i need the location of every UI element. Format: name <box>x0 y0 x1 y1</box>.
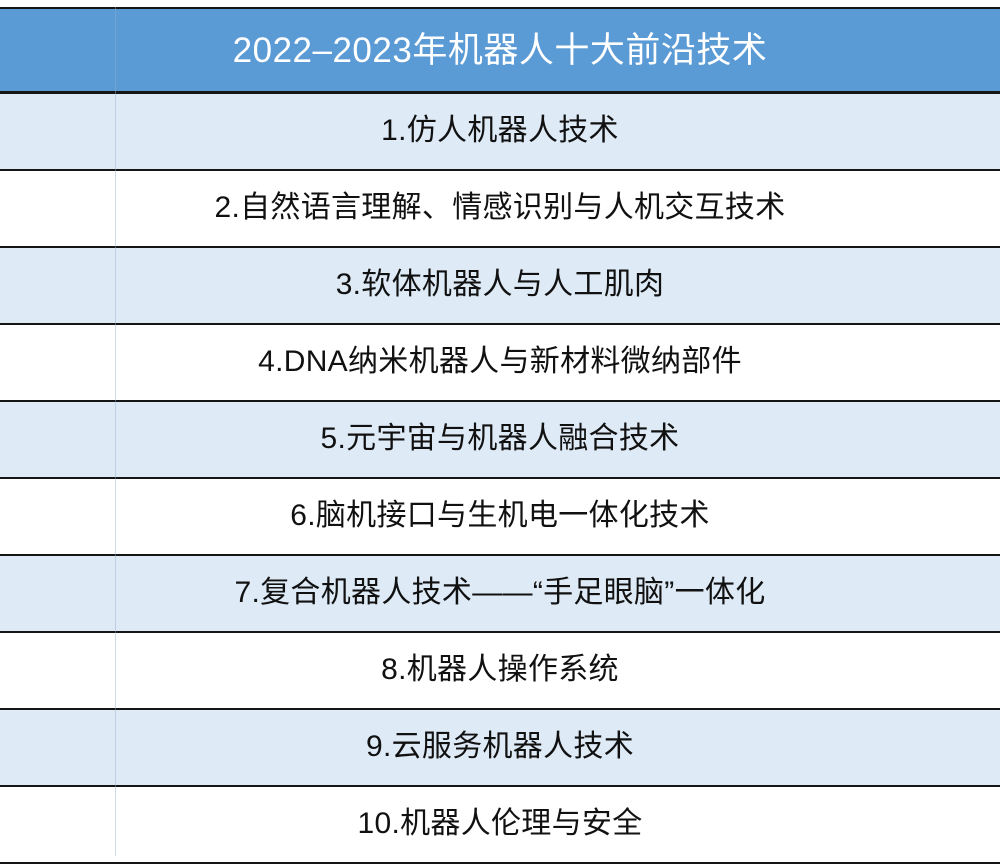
tech-list-table: 2022–2023年机器人十大前沿技术 1.仿人机器人技术 2.自然语言理解、情… <box>0 7 1000 864</box>
item-label: 3.软体机器人与人工肌肉 <box>0 270 1000 300</box>
item-label: 7.复合机器人技术——“手足眼脑”一体化 <box>0 578 1000 608</box>
table-cell-item-3[interactable]: 3.软体机器人与人工肌肉 <box>0 247 1000 324</box>
table-cell-item-2[interactable]: 2.自然语言理解、情感识别与人机交互技术 <box>0 170 1000 247</box>
table-cell-item-5[interactable]: 5.元宇宙与机器人融合技术 <box>0 401 1000 478</box>
table-row[interactable]: 4.DNA纳米机器人与新材料微纳部件 <box>0 324 1000 401</box>
table-cell-item-8[interactable]: 8.机器人操作系统 <box>0 632 1000 709</box>
table-cell-item-9[interactable]: 9.云服务机器人技术 <box>0 709 1000 786</box>
table-row[interactable]: 7.复合机器人技术——“手足眼脑”一体化 <box>0 555 1000 632</box>
table-header-row: 2022–2023年机器人十大前沿技术 <box>0 8 1000 93</box>
table-cell-item-6[interactable]: 6.脑机接口与生机电一体化技术 <box>0 478 1000 555</box>
item-label: 5.元宇宙与机器人融合技术 <box>0 424 1000 454</box>
table-row[interactable]: 1.仿人机器人技术 <box>0 93 1000 170</box>
table-title-cell: 2022–2023年机器人十大前沿技术 <box>0 8 1000 93</box>
item-label: 9.云服务机器人技术 <box>0 732 1000 762</box>
item-label: 2.自然语言理解、情感识别与人机交互技术 <box>0 193 1000 223</box>
table-row[interactable]: 2.自然语言理解、情感识别与人机交互技术 <box>0 170 1000 247</box>
item-label: 6.脑机接口与生机电一体化技术 <box>0 501 1000 531</box>
table-row[interactable]: 5.元宇宙与机器人融合技术 <box>0 401 1000 478</box>
item-label: 4.DNA纳米机器人与新材料微纳部件 <box>0 347 1000 377</box>
table-row[interactable]: 10.机器人伦理与安全 <box>0 786 1000 863</box>
table-title-text: 2022–2023年机器人十大前沿技术 <box>0 33 1000 68</box>
table-row[interactable]: 9.云服务机器人技术 <box>0 709 1000 786</box>
table-cell-item-10[interactable]: 10.机器人伦理与安全 <box>0 786 1000 863</box>
table-cell-item-7[interactable]: 7.复合机器人技术——“手足眼脑”一体化 <box>0 555 1000 632</box>
robotics-top-ten-technologies-table: 2022–2023年机器人十大前沿技术 1.仿人机器人技术 2.自然语言理解、情… <box>0 0 1000 860</box>
table-cell-item-1[interactable]: 1.仿人机器人技术 <box>0 93 1000 170</box>
table-row[interactable]: 8.机器人操作系统 <box>0 632 1000 709</box>
item-label: 10.机器人伦理与安全 <box>0 809 1000 839</box>
table-row[interactable]: 6.脑机接口与生机电一体化技术 <box>0 478 1000 555</box>
table-row[interactable]: 3.软体机器人与人工肌肉 <box>0 247 1000 324</box>
item-label: 1.仿人机器人技术 <box>0 116 1000 146</box>
table-cell-item-4[interactable]: 4.DNA纳米机器人与新材料微纳部件 <box>0 324 1000 401</box>
item-label: 8.机器人操作系统 <box>0 655 1000 685</box>
